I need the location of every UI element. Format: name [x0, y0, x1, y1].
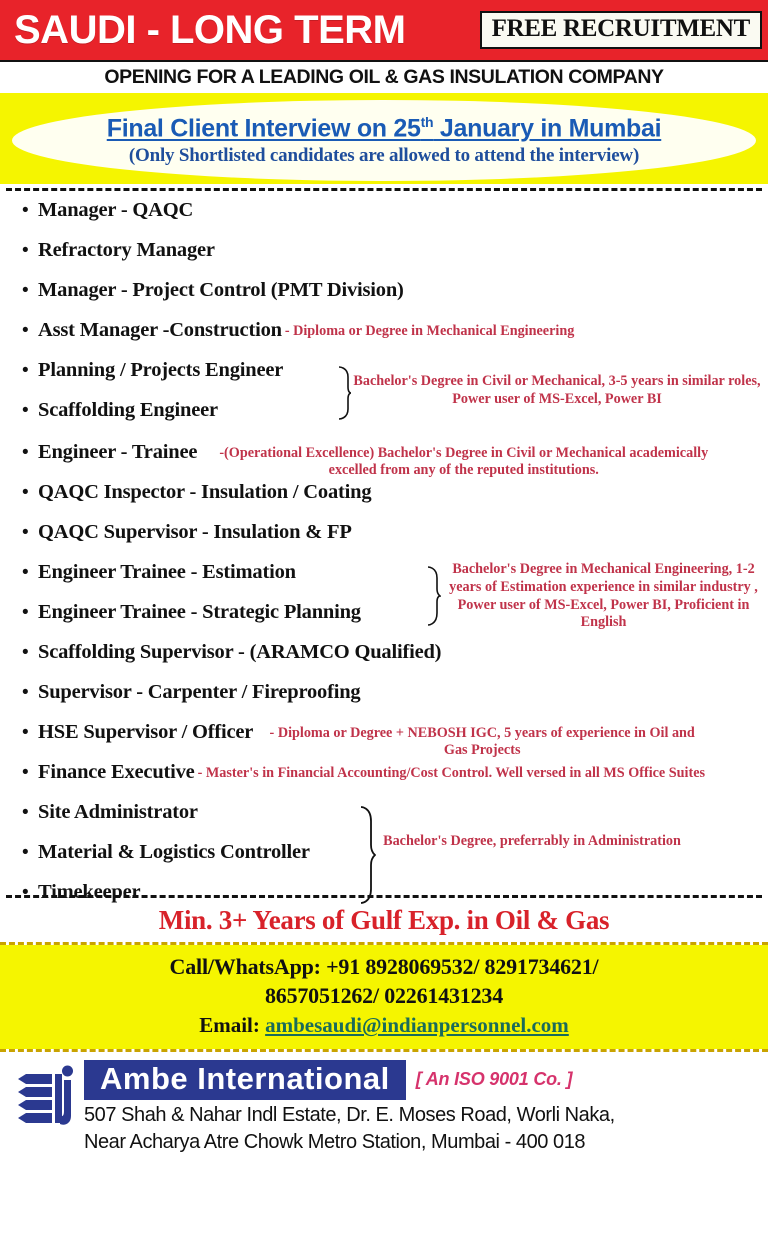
job-requirement-note: Bachelor's Degree in Civil or Mechanical… — [352, 373, 762, 409]
job-list: • Manager - QAQC • Refractory Manager • … — [0, 191, 768, 891]
email-label: Email: — [199, 1013, 265, 1037]
bullet-icon: • — [22, 481, 38, 504]
bullet-icon: • — [22, 681, 38, 704]
footer: Ambe International [ An ISO 9001 Co. ] 5… — [0, 1052, 768, 1155]
interview-headline: Final Client Interview on 25th January i… — [107, 114, 662, 143]
job-title: Manager - QAQC — [38, 199, 193, 223]
interview-headline-pre: Final Client Interview on 25 — [107, 114, 421, 142]
group-brace-icon — [336, 365, 352, 421]
bullet-icon: • — [22, 841, 38, 864]
bullet-icon: • — [22, 521, 38, 544]
list-item: • QAQC Inspector - Insulation / Coating — [0, 481, 768, 521]
list-item: • Engineer - Trainee -(Operational Excel… — [0, 441, 768, 481]
bullet-icon: • — [22, 801, 38, 824]
job-requirement-note: - Diploma or Degree in Mechanical Engine… — [282, 319, 575, 340]
list-item: • Manager - Project Control (PMT Divisio… — [0, 279, 768, 319]
job-group-administration: • Site Administrator • Material & Logist… — [0, 801, 768, 921]
group-brace-icon — [358, 805, 376, 905]
ambe-logo-icon — [12, 1060, 74, 1143]
job-group-planning: • Planning / Projects Engineer • Scaffol… — [0, 359, 768, 439]
bullet-icon: • — [22, 761, 38, 784]
job-title: Planning / Projects Engineer — [38, 359, 283, 383]
job-requirement-note: - Diploma or Degree + NEBOSH IGC, 5 year… — [253, 721, 708, 760]
bullet-icon: • — [22, 881, 38, 904]
phone-line-1[interactable]: Call/WhatsApp: +91 8928069532/ 829173462… — [0, 953, 768, 982]
job-requirement-note: Bachelor's Degree in Mechanical Engineer… — [441, 561, 766, 632]
free-recruitment-label: FREE RECRUITMENT — [492, 15, 750, 42]
page-title: SAUDI - LONG TERM — [14, 10, 405, 50]
interview-headline-post: January in Mumbai — [433, 114, 661, 142]
group-brace-icon — [425, 565, 441, 627]
job-title: Material & Logistics Controller — [38, 841, 310, 865]
job-title: QAQC Inspector - Insulation / Coating — [38, 481, 371, 505]
list-item: • Scaffolding Supervisor - (ARAMCO Quali… — [0, 641, 768, 681]
header-banner: SAUDI - LONG TERM FREE RECRUITMENT — [0, 0, 768, 62]
list-item: • Asst Manager -Construction - Diploma o… — [0, 319, 768, 359]
company-row: Ambe International [ An ISO 9001 Co. ] — [84, 1060, 760, 1101]
list-item: • Supervisor - Carpenter / Fireproofing — [0, 681, 768, 721]
company-name-box: Ambe International — [84, 1060, 406, 1101]
bullet-icon: • — [22, 359, 38, 382]
job-requirement-note: -(Operational Excellence) Bachelor's Deg… — [197, 441, 727, 480]
bullet-icon: • — [22, 641, 38, 664]
address-line-2: Near Acharya Atre Chowk Metro Station, M… — [84, 1130, 760, 1154]
job-title: Supervisor - Carpenter / Fireproofing — [38, 681, 360, 705]
email-row: Email: ambesaudi@indianpersonnel.com — [0, 1011, 768, 1039]
company-name: Ambe International — [100, 1061, 390, 1096]
job-title: Asst Manager -Construction — [38, 319, 282, 343]
date-ordinal-suffix: th — [421, 114, 434, 130]
bullet-icon: • — [22, 199, 38, 222]
job-title: Engineer Trainee - Estimation — [38, 561, 296, 585]
job-title: Engineer - Trainee — [38, 441, 197, 465]
contact-block: Call/WhatsApp: +91 8928069532/ 829173462… — [0, 945, 768, 1049]
list-item: • Finance Executive - Master's in Financ… — [0, 761, 768, 801]
job-requirement-note: Bachelor's Degree, preferrably in Admini… — [382, 833, 682, 851]
bullet-icon: • — [22, 561, 38, 584]
email-link[interactable]: ambesaudi@indianpersonnel.com — [265, 1013, 569, 1037]
list-item: • Manager - QAQC — [0, 199, 768, 239]
bullet-icon: • — [22, 441, 38, 464]
bullet-icon: • — [22, 279, 38, 302]
bullet-icon: • — [22, 399, 38, 422]
shortlist-note: (Only Shortlisted candidates are allowed… — [129, 145, 639, 167]
list-item: • Timekeeper — [0, 881, 768, 921]
subtitle-bar: OPENING FOR A LEADING OIL & GAS INSULATI… — [0, 62, 768, 96]
bullet-icon: • — [22, 601, 38, 624]
job-title: Manager - Project Control (PMT Division) — [38, 279, 404, 303]
interview-banner-inner: Final Client Interview on 25th January i… — [12, 100, 756, 181]
interview-banner: Final Client Interview on 25th January i… — [0, 96, 768, 184]
bullet-icon: • — [22, 721, 38, 744]
job-title: Timekeeper — [38, 881, 140, 905]
job-title: Scaffolding Supervisor - (ARAMCO Qualifi… — [38, 641, 441, 665]
bullet-icon: • — [22, 239, 38, 262]
list-item: • Refractory Manager — [0, 239, 768, 279]
job-requirement-note: - Master's in Financial Accounting/Cost … — [195, 761, 705, 782]
job-title: Scaffolding Engineer — [38, 399, 218, 423]
job-group-trainee: • Engineer Trainee - Estimation • Engine… — [0, 561, 768, 641]
job-title: Engineer Trainee - Strategic Planning — [38, 601, 361, 625]
subtitle-text: OPENING FOR A LEADING OIL & GAS INSULATI… — [104, 66, 663, 89]
advertisement-poster: SAUDI - LONG TERM FREE RECRUITMENT OPENI… — [0, 0, 768, 1248]
footer-details: Ambe International [ An ISO 9001 Co. ] 5… — [84, 1060, 760, 1155]
iso-badge: [ An ISO 9001 Co. ] — [416, 1069, 573, 1090]
list-item: • QAQC Supervisor - Insulation & FP — [0, 521, 768, 561]
job-title: QAQC Supervisor - Insulation & FP — [38, 521, 352, 545]
job-title: Refractory Manager — [38, 239, 215, 263]
job-title: HSE Supervisor / Officer — [38, 721, 253, 745]
job-title: Site Administrator — [38, 801, 198, 825]
phone-line-2[interactable]: 8657051262/ 02261431234 — [0, 982, 768, 1011]
free-recruitment-badge: FREE RECRUITMENT — [480, 11, 762, 48]
bullet-icon: • — [22, 319, 38, 342]
address-line-1: 507 Shah & Nahar Indl Estate, Dr. E. Mos… — [84, 1103, 760, 1127]
job-title: Finance Executive — [38, 761, 195, 785]
list-item: • HSE Supervisor / Officer - Diploma or … — [0, 721, 768, 761]
